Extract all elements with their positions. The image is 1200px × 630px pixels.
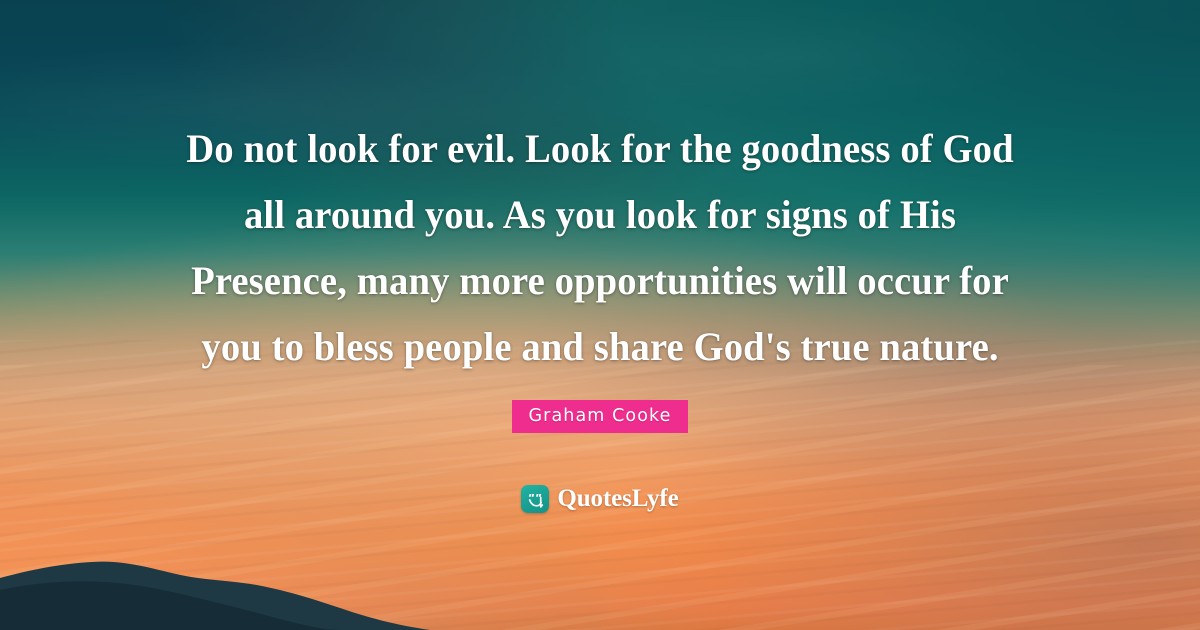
brand-row: QuotesLyfe [0, 485, 1200, 513]
quote-smiley-icon [521, 485, 549, 513]
author-row: Graham Cooke [0, 400, 1200, 433]
brand-logo[interactable]: QuotesLyfe [521, 485, 678, 513]
brand-wordmark: QuotesLyfe [557, 485, 678, 513]
quote-text: Do not look for evil. Look for the goodn… [170, 0, 1030, 380]
card-content: Do not look for evil. Look for the goodn… [0, 0, 1200, 630]
quote-card: Do not look for evil. Look for the goodn… [0, 0, 1200, 630]
author-badge: Graham Cooke [512, 400, 687, 433]
